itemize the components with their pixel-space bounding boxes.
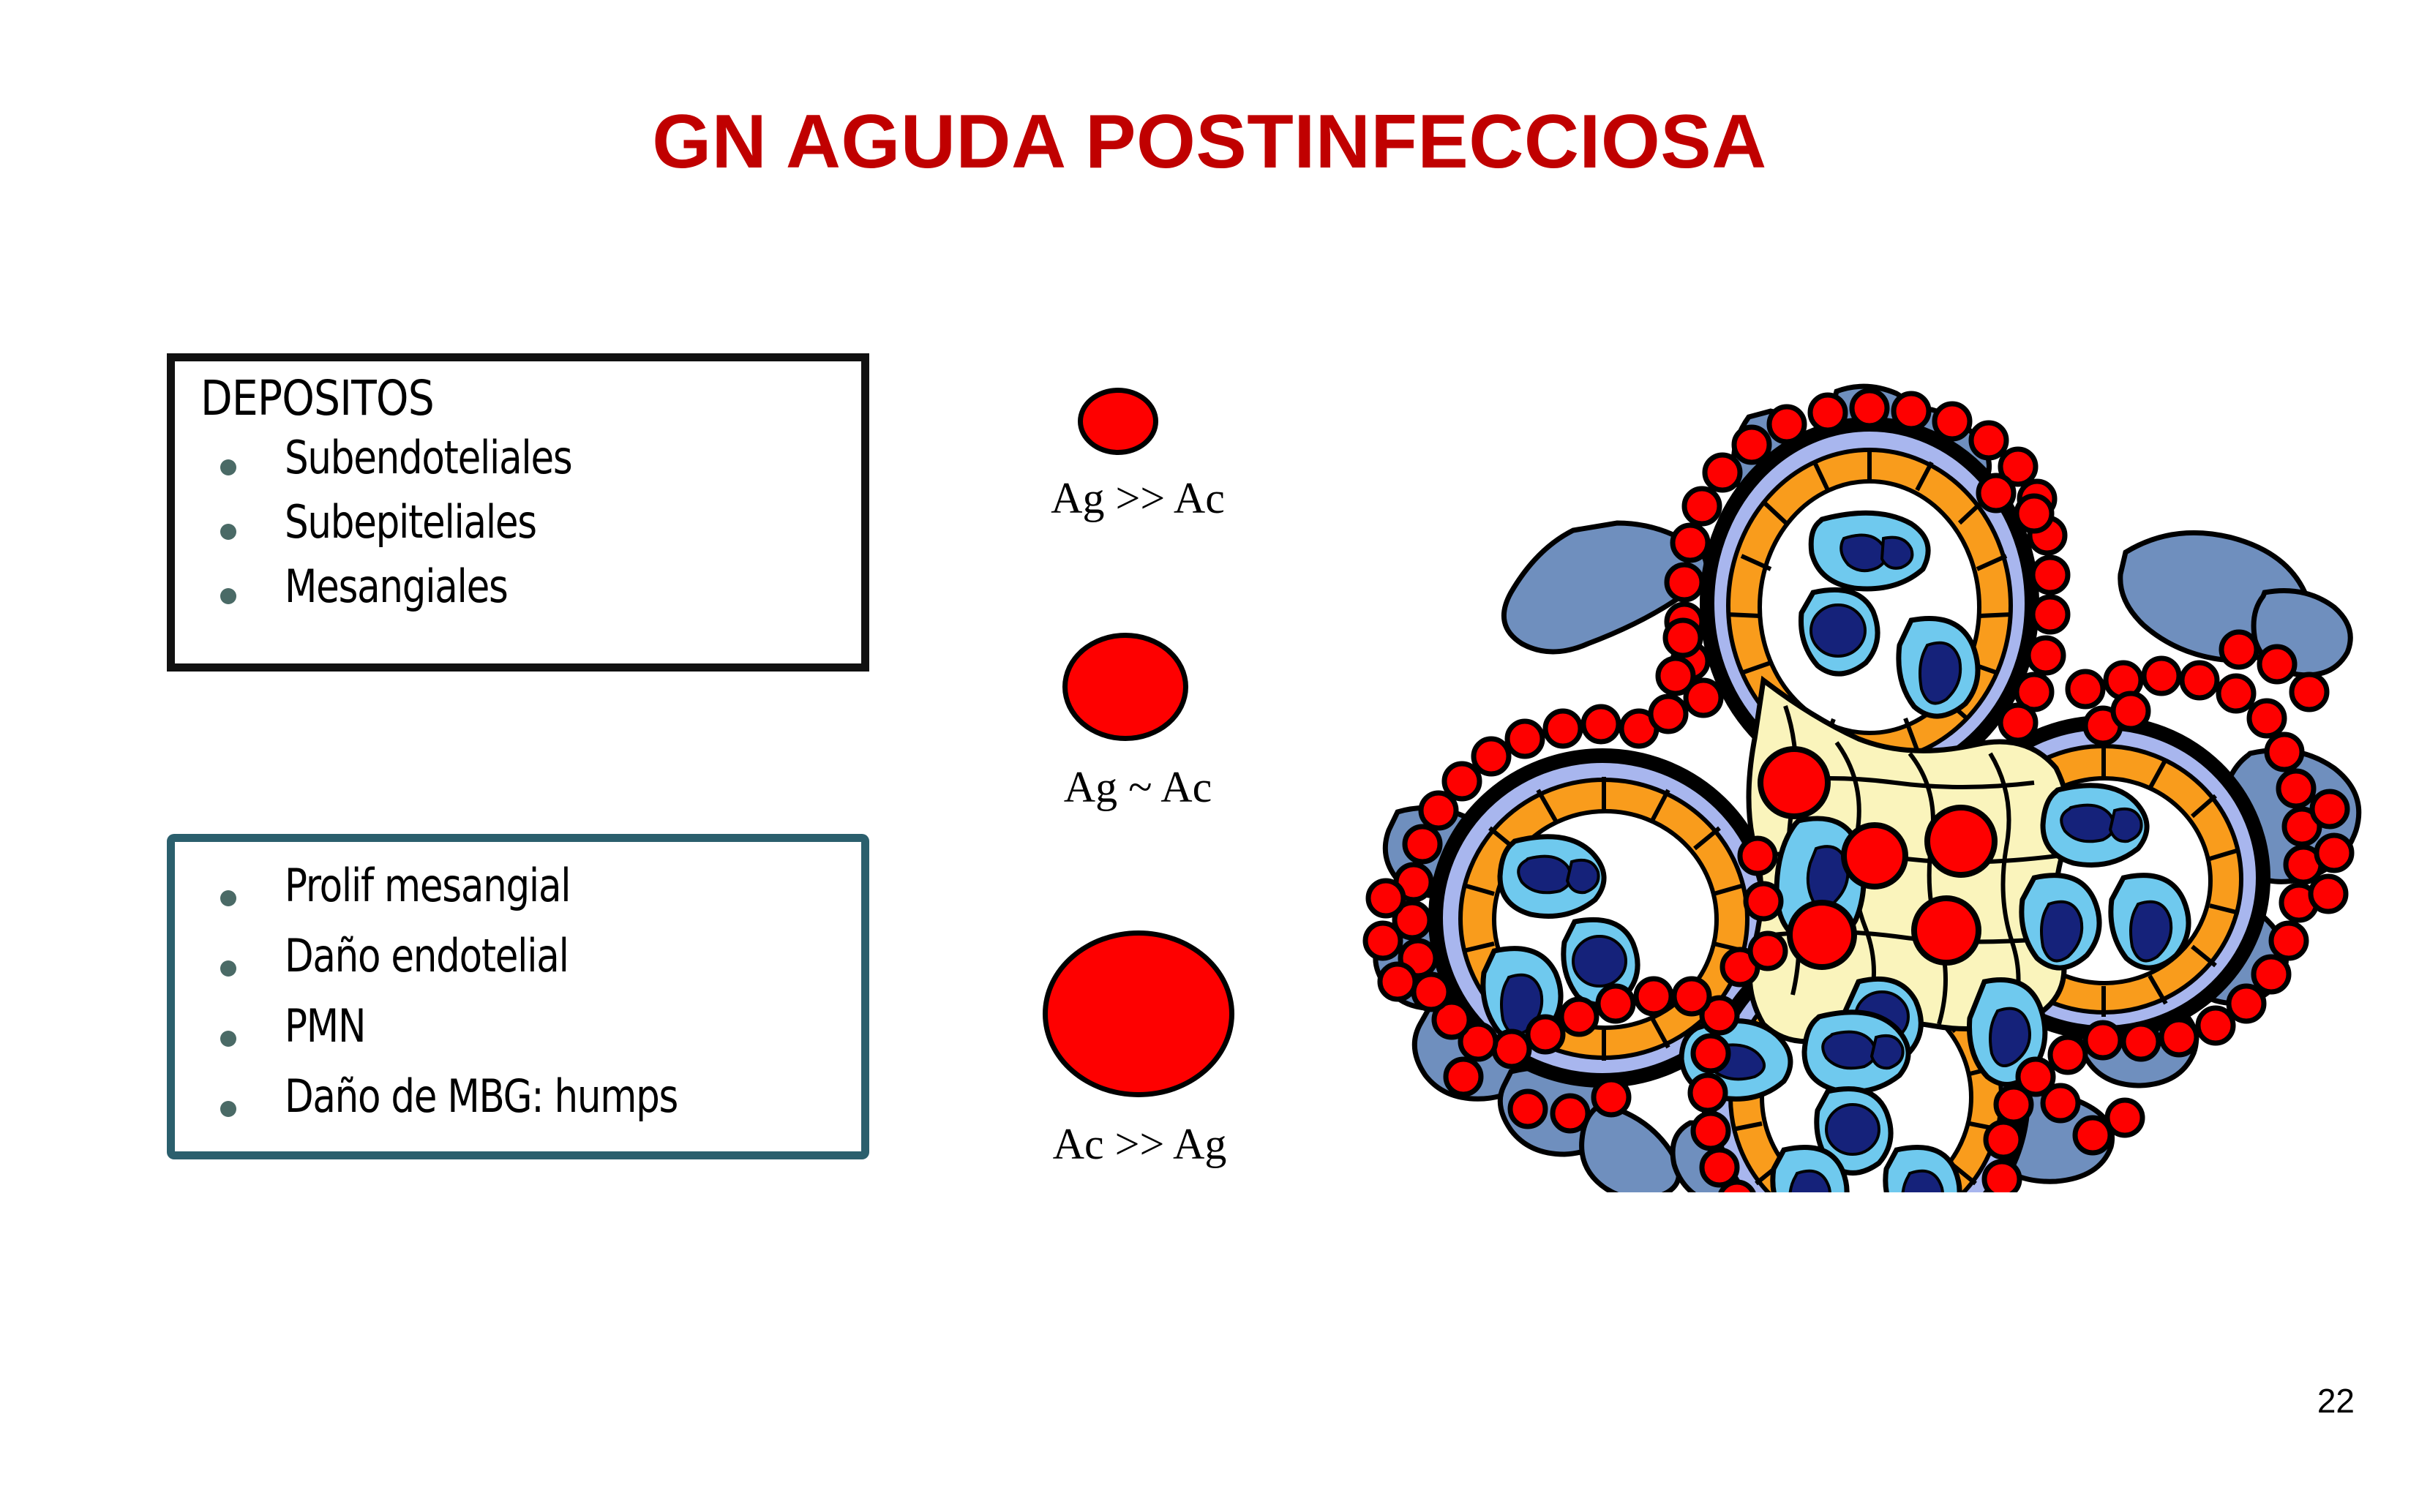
cell	[1899, 619, 1978, 717]
list-item: Subepiteliales	[175, 496, 861, 560]
bullet-dot-icon	[220, 459, 236, 475]
list-item: Daño de MBG: humps	[175, 1070, 861, 1140]
list-item-label: Subendoteliales	[285, 432, 571, 484]
cell	[2111, 876, 2189, 968]
deposits-textbox: DEPOSITOS Subendoteliales Subepiteliales…	[167, 353, 869, 672]
bullet-dot-icon	[220, 890, 236, 906]
immune-complex-label: Ag ~ Ac	[1010, 762, 1266, 813]
glomerulus-diagram	[1354, 373, 2393, 1192]
list-item: Prolif mesangial	[175, 860, 861, 930]
cell	[1801, 590, 1878, 674]
immune-complex-scale-item-large: Ac >> Ag	[1010, 914, 1346, 1170]
page-number: 22	[2317, 1381, 2355, 1421]
bullet-dot-icon	[220, 960, 236, 977]
cell	[2043, 786, 2147, 865]
cell	[1811, 513, 1928, 589]
cell	[1500, 837, 1604, 917]
list-item: Mesangiales	[175, 560, 861, 625]
cell	[1804, 1012, 1908, 1092]
list-item-label: Prolif mesangial	[285, 860, 570, 911]
bullet-dot-icon	[220, 588, 236, 604]
immune-complex-circle-icon	[1043, 930, 1234, 1097]
bullet-dot-icon	[220, 524, 236, 540]
bullet-dot-icon	[220, 1101, 236, 1117]
immune-complex-label: Ac >> Ag	[1010, 1119, 1269, 1170]
bullet-dot-icon	[220, 1031, 236, 1047]
list-item-label: Daño de MBG: humps	[285, 1070, 678, 1122]
deposits-list: Subendoteliales Subepiteliales Mesangial…	[175, 432, 861, 625]
list-item-label: Subepiteliales	[285, 496, 536, 548]
page-title: GN AGUDA POSTINFECCIOSA	[0, 104, 2419, 180]
immune-complex-scale-item-small: Ag >> Ac	[1010, 373, 1317, 549]
list-item-label: PMN	[285, 1000, 365, 1052]
deposits-heading: DEPOSITOS	[200, 370, 434, 426]
findings-textbox: Prolif mesangial Daño endotelial PMN Dañ…	[167, 834, 869, 1159]
findings-list: Prolif mesangial Daño endotelial PMN Dañ…	[175, 860, 861, 1140]
list-item-label: Mesangiales	[285, 560, 508, 612]
list-item: PMN	[175, 1000, 861, 1070]
list-item: Daño endotelial	[175, 930, 861, 1000]
immune-complex-circle-icon	[1078, 388, 1158, 455]
immune-complex-scale-item-medium: Ag ~ Ac	[1010, 625, 1317, 838]
immune-complex-circle-icon	[1062, 633, 1188, 741]
list-item: Subendoteliales	[175, 432, 861, 496]
immune-complex-label: Ag >> Ac	[1010, 473, 1266, 524]
cell	[2022, 876, 2099, 968]
list-item-label: Daño endotelial	[285, 930, 569, 982]
